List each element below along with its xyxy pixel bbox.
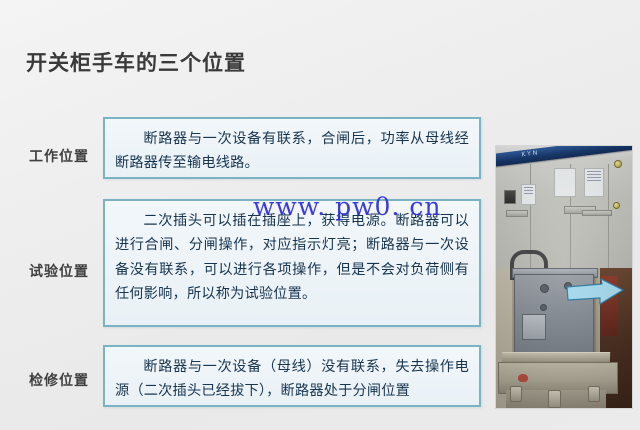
photo-knob <box>613 202 620 209</box>
photo-truck-bushing <box>540 284 549 293</box>
photo-label-card <box>554 168 576 197</box>
photo-support-foot <box>588 386 600 402</box>
photo-support-foot <box>548 390 561 408</box>
photo-red-marker <box>518 374 528 382</box>
switchgear-photo: KYN <box>495 145 633 409</box>
row-label-maintenance-position: 检修位置 <box>16 370 102 390</box>
photo-knob <box>614 160 622 168</box>
row-label-test-position: 试验位置 <box>16 261 102 281</box>
text-box-maintenance-position-body: 断路器与一次设备（母线）没有联系，失去操作电源（二次插头已经拔下），断路器处于分… <box>115 355 469 404</box>
photo-truck-bushing <box>540 304 547 311</box>
text-box-test-position-body: 二次插头可以插在插座上，获得电源。断路器可以进行合闸、分闸操作，对应指示灯亮；断… <box>115 209 469 307</box>
photo-banner-text: KYN <box>521 149 540 158</box>
photo-terminal-strip <box>506 210 528 217</box>
photo-label-card <box>584 168 604 197</box>
page-title: 开关柜手车的三个位置 <box>26 47 246 77</box>
text-box-working-position: 断路器与一次设备有联系，合闸后，功率从母线经断路器传至输电线路。 <box>103 117 481 179</box>
photo-relay-unit <box>504 190 516 204</box>
photo-cabinet-seam <box>608 164 609 268</box>
row-label-working-position: 工作位置 <box>16 146 102 166</box>
text-box-working-position-body: 断路器与一次设备有联系，合闸后，功率从母线经断路器传至输电线路。 <box>115 127 469 176</box>
photo-label-card <box>521 184 536 205</box>
photo-terminal-strip <box>582 210 612 216</box>
annotation-arrow-icon <box>566 278 624 306</box>
text-box-maintenance-position: 断路器与一次设备（母线）没有联系，失去操作电源（二次插头已经拔下），断路器处于分… <box>103 345 481 407</box>
photo-truck-front-panel <box>522 314 546 340</box>
photo-support-foot <box>510 386 522 402</box>
text-box-test-position: 二次插头可以插在插座上，获得电源。断路器可以进行合闸、分闸操作，对应指示灯亮；断… <box>103 199 481 327</box>
slide-canvas: 开关柜手车的三个位置 工作位置 断路器与一次设备有联系，合闸后，功率从母线经断路… <box>0 0 640 430</box>
